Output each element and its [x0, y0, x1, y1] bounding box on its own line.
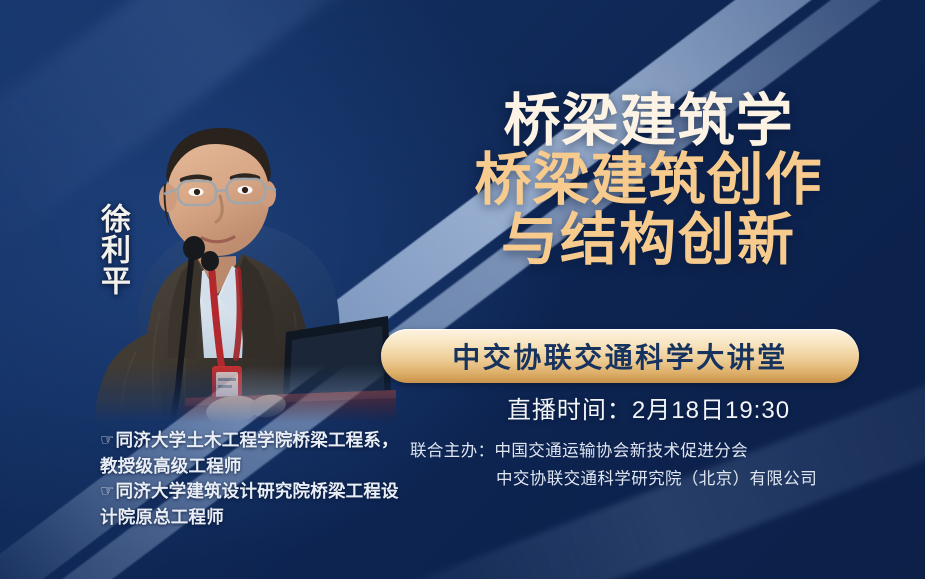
- organizer-label: 联合主办：: [410, 442, 495, 460]
- hand-pointing-icon: ☞: [100, 483, 115, 500]
- series-badge: 中交协联交通科学大讲堂: [381, 329, 859, 383]
- live-time: 直播时间：2月18日19:30: [372, 390, 925, 425]
- hand-pointing-icon: ☞: [100, 432, 115, 449]
- title-line-3: 与结构创新: [372, 211, 925, 270]
- title-line-2: 桥梁建筑创作: [372, 151, 925, 210]
- series-badge-label: 中交协联交通科学大讲堂: [452, 336, 788, 376]
- credential-text: 同济大学建筑设计研究院桥梁工程设计院原总工程师: [100, 481, 399, 527]
- organizer-name: 中国交通运输协会新技术促进分会: [495, 442, 749, 460]
- poster-title: 桥梁建筑学 桥梁建筑创作 与结构创新: [372, 92, 925, 270]
- organizer-row: 中交协联交通科学研究院（北京）有限公司: [410, 465, 817, 493]
- speaker-credentials: ☞同济大学土木工程学院桥梁工程系，教授级高级工程师 ☞同济大学建筑设计研究院桥梁…: [100, 428, 410, 531]
- title-line-1: 桥梁建筑学: [372, 92, 925, 151]
- credential-item: ☞同济大学土木工程学院桥梁工程系，教授级高级工程师: [100, 428, 410, 479]
- webinar-poster: 徐利平 ☞同济大学土木工程学院桥梁工程系，教授级高级工程师 ☞同济大学建筑设计研…: [0, 0, 925, 579]
- credential-text: 同济大学土木工程学院桥梁工程系，教授级高级工程师: [100, 430, 399, 476]
- speaker-name: 徐利平: [84, 203, 130, 296]
- credential-item: ☞同济大学建筑设计研究院桥梁工程设计院原总工程师: [100, 479, 410, 530]
- organizers: 联合主办：中国交通运输协会新技术促进分会 中交协联交通科学研究院（北京）有限公司: [410, 437, 817, 494]
- organizer-name: 中交协联交通科学研究院（北京）有限公司: [496, 470, 817, 488]
- organizer-row: 联合主办：中国交通运输协会新技术促进分会: [410, 437, 817, 465]
- poster-content-column: 桥梁建筑学 桥梁建筑创作 与结构创新 中交协联交通科学大讲堂 直播时间：2月18…: [372, 0, 925, 579]
